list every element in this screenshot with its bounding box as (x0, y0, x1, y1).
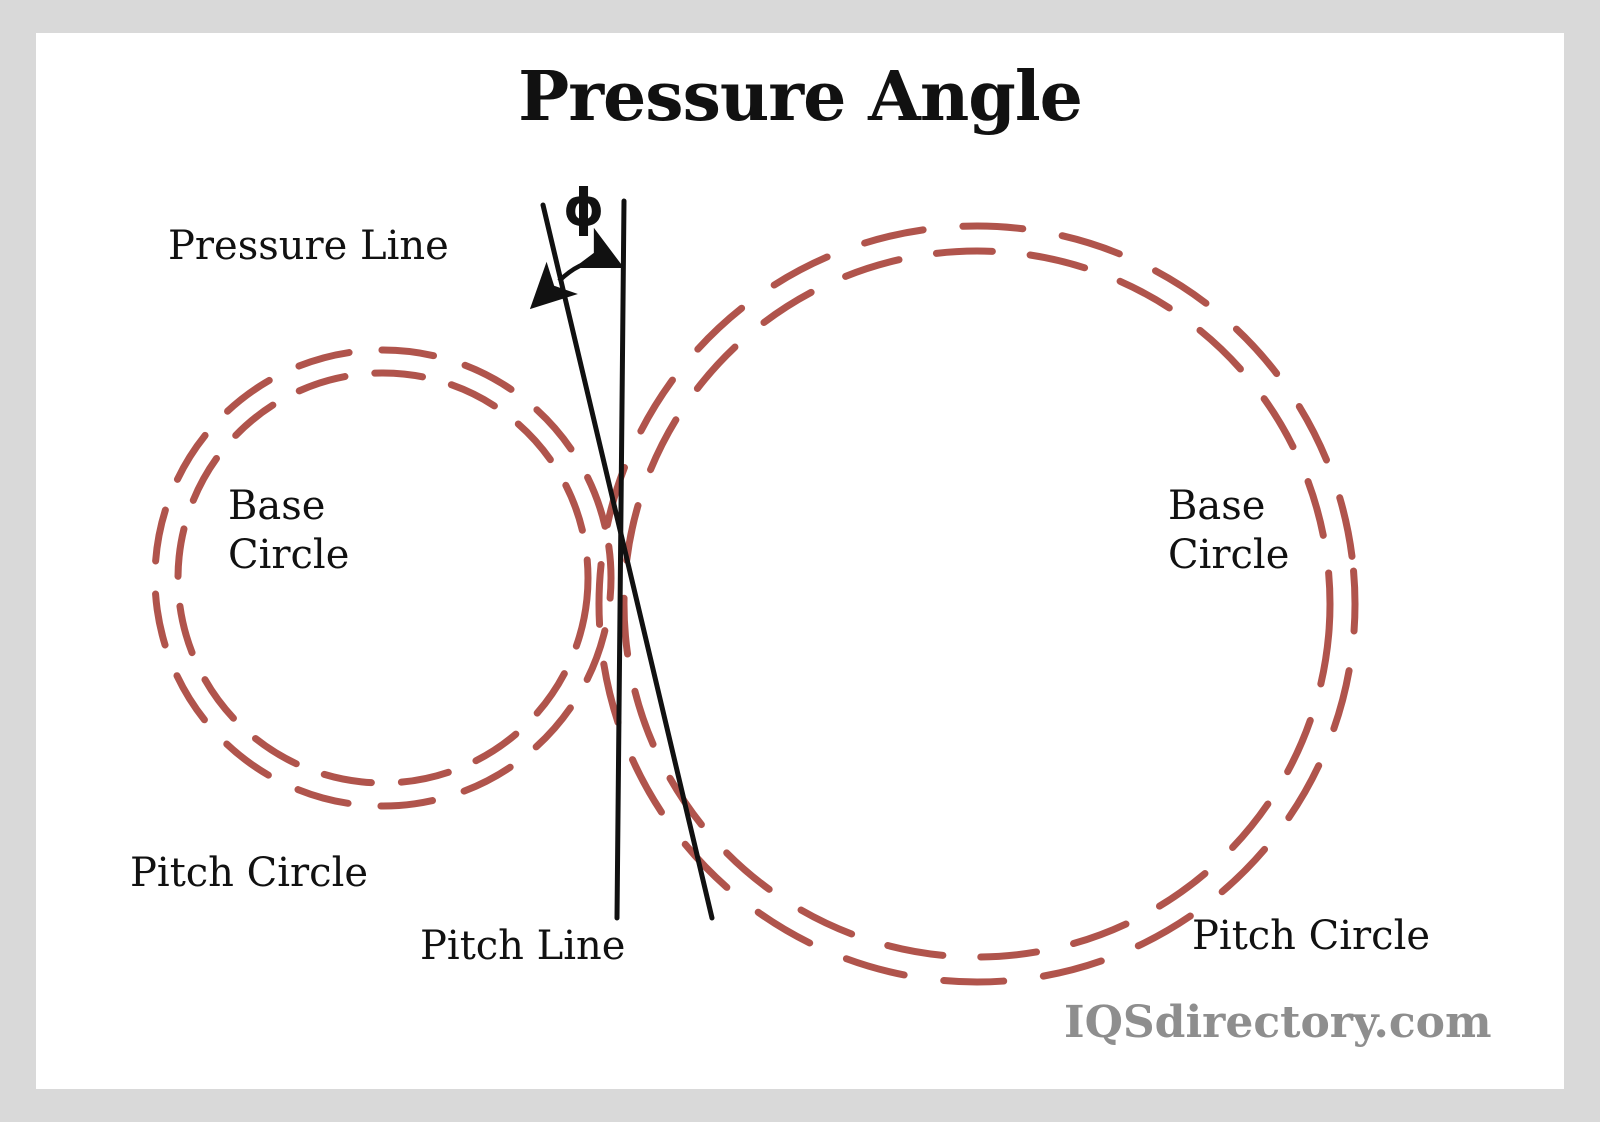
label-base-circle-left-line1: Base (228, 482, 349, 531)
label-base-circle-right-line1: Base (1168, 482, 1289, 531)
watermark-iqsdirectory: IQSdirectory.com (1064, 997, 1492, 1048)
label-base-circle-left-line2: Circle (228, 531, 349, 580)
label-pitch-circle-right: Pitch Circle (1192, 912, 1430, 961)
label-pitch-circle-left: Pitch Circle (130, 849, 368, 898)
label-base-circle-right: Base Circle (1168, 482, 1289, 580)
label-pitch-line: Pitch Line (420, 922, 625, 971)
label-pressure-line: Pressure Line (168, 222, 449, 271)
page-title: Pressure Angle (0, 57, 1600, 137)
label-base-circle-right-line2: Circle (1168, 531, 1289, 580)
pressure-angle-symbol: ϕ (563, 178, 604, 238)
diagram-page: Pressure Angle Pressure Line Base Circle… (0, 0, 1600, 1122)
label-base-circle-left: Base Circle (228, 482, 349, 580)
